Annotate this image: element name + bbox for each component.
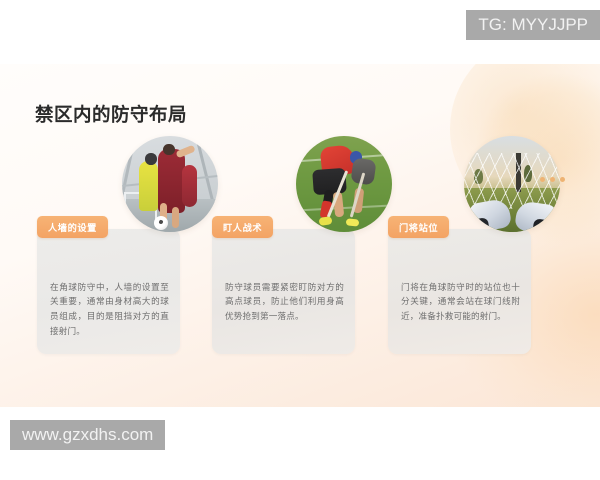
info-card-1: 在角球防守中，人墙的设置至关重要，通常由身材高大的球员组成，目的是阻挡对方的直接… [37, 229, 180, 354]
futsal-players-jumping-photo [122, 136, 218, 232]
info-card-3: 门将在角球防守时的站位也十分关键，通常会站在球门线附近，准备扑救可能的射门。 [388, 229, 531, 354]
info-card-2-body: 防守球员需要紧密盯防对方的高点球员，防止他们利用身高优势抢到第一落点。 [225, 280, 344, 324]
decor-dot-icon [540, 177, 545, 182]
info-card-2: 防守球员需要紧密盯防对方的高点球员，防止他们利用身高优势抢到第一落点。 [212, 229, 355, 354]
goalkeeper-gloves-net-photo [464, 136, 560, 232]
site-watermark: www.gzxdhs.com [10, 420, 165, 450]
info-card-2-badge: 盯人战术 [212, 216, 273, 238]
info-card-1-badge: 人墙的设置 [37, 216, 108, 238]
field-hockey-players-photo [296, 136, 392, 232]
decorative-dots [540, 177, 565, 182]
decor-dot-icon [560, 177, 565, 182]
telegram-watermark: TG: MYYJJPP [466, 10, 600, 40]
decor-dot-icon [550, 177, 555, 182]
info-card-1-body: 在角球防守中，人墙的设置至关重要，通常由身材高大的球员组成，目的是阻挡对方的直接… [50, 280, 169, 339]
page-title: 禁区内的防守布局 [35, 104, 187, 126]
slide-canvas: 禁区内的防守布局 [0, 64, 600, 407]
info-card-3-body: 门将在角球防守时的站位也十分关键，通常会站在球门线附近，准备扑救可能的射门。 [401, 280, 520, 324]
info-card-3-badge: 门将站位 [388, 216, 449, 238]
